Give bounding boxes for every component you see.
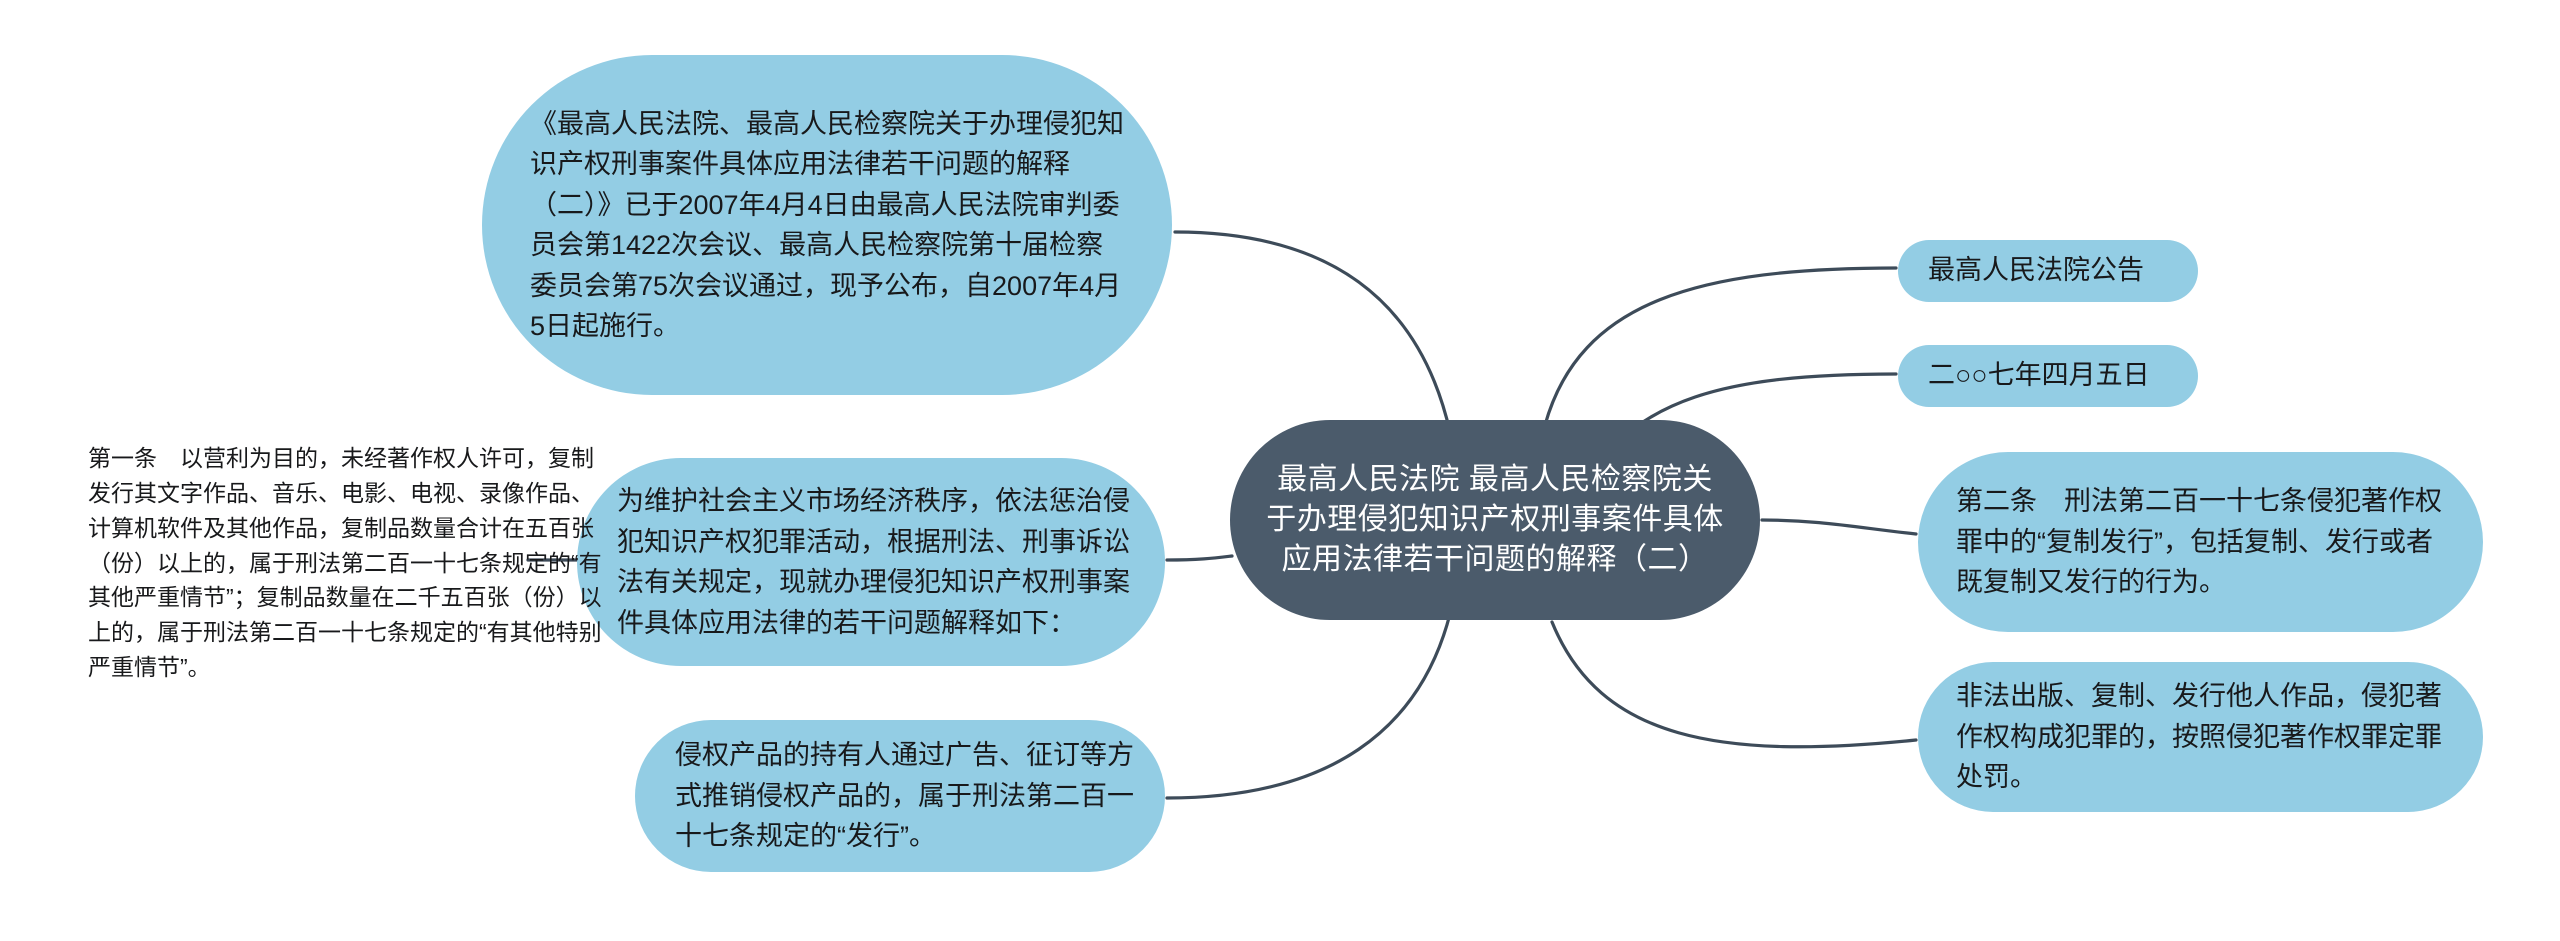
branch-node-article-one-label: 第一条 以营利为目的，未经著作权人许可，复制发行其文字作品、音乐、电影、电视、录… xyxy=(88,441,608,686)
branch-node-distribution[interactable]: 侵权产品的持有人通过广告、征订等方式推销侵权产品的，属于刑法第二百一十七条规定的… xyxy=(635,720,1165,872)
branch-node-illegal-publication-label: 非法出版、复制、发行他人作品，侵犯著作权构成犯罪的，按照侵犯著作权罪定罪处罚。 xyxy=(1956,676,2455,798)
branch-node-article-two[interactable]: 第二条 刑法第二百一十七条侵犯著作权罪中的“复制发行”，包括复制、发行或者既复制… xyxy=(1918,452,2483,632)
branch-node-announcement-body[interactable]: 《最高人民法院、最高人民检察院关于办理侵犯知识产权刑事案件具体应用法律若干问题的… xyxy=(482,55,1172,395)
branch-node-illegal-publication[interactable]: 非法出版、复制、发行他人作品，侵犯著作权构成犯罪的，按照侵犯著作权罪定罪处罚。 xyxy=(1918,662,2483,812)
branch-node-article-two-label: 第二条 刑法第二百一十七条侵犯著作权罪中的“复制发行”，包括复制、发行或者既复制… xyxy=(1956,481,2455,603)
mindmap-canvas: 《最高人民法院、最高人民检察院关于办理侵犯知识产权刑事案件具体应用法律若干问题的… xyxy=(0,0,2560,941)
branch-node-sc-announcement[interactable]: 最高人民法院公告 xyxy=(1898,240,2198,302)
center-node[interactable]: 最高人民法院 最高人民检察院关于办理侵犯知识产权刑事案件具体应用法律若干问题的解… xyxy=(1230,420,1760,620)
branch-node-announcement-body-label: 《最高人民法院、最高人民检察院关于办理侵犯知识产权刑事案件具体应用法律若干问题的… xyxy=(530,104,1130,347)
edge-center-to-sc-announcement xyxy=(1545,268,1896,425)
edge-center-to-illegal-publication xyxy=(1552,622,1916,747)
branch-node-date[interactable]: 二○○七年四月五日 xyxy=(1898,345,2198,407)
edge-center-to-purpose xyxy=(1167,556,1232,560)
edge-center-to-distribution xyxy=(1167,614,1450,798)
branch-node-purpose[interactable]: 为维护社会主义市场经济秩序，依法惩治侵犯知识产权犯罪活动，根据刑法、刑事诉讼法有… xyxy=(577,458,1165,666)
branch-node-sc-announcement-label: 最高人民法院公告 xyxy=(1928,253,2168,288)
branch-node-date-label: 二○○七年四月五日 xyxy=(1928,358,2168,393)
branch-node-purpose-label: 为维护社会主义市场经济秩序，依法惩治侵犯知识产权犯罪活动，根据刑法、刑事诉讼法有… xyxy=(617,481,1131,643)
branch-node-article-one[interactable]: 第一条 以营利为目的，未经著作权人许可，复制发行其文字作品、音乐、电影、电视、录… xyxy=(88,448,608,678)
branch-node-distribution-label: 侵权产品的持有人通过广告、征订等方式推销侵权产品的，属于刑法第二百一十七条规定的… xyxy=(675,735,1135,857)
center-node-label: 最高人民法院 最高人民检察院关于办理侵犯知识产权刑事案件具体应用法律若干问题的解… xyxy=(1264,460,1726,581)
edge-center-to-announcement-body xyxy=(1175,232,1450,432)
edge-center-to-article-two xyxy=(1762,520,1916,534)
